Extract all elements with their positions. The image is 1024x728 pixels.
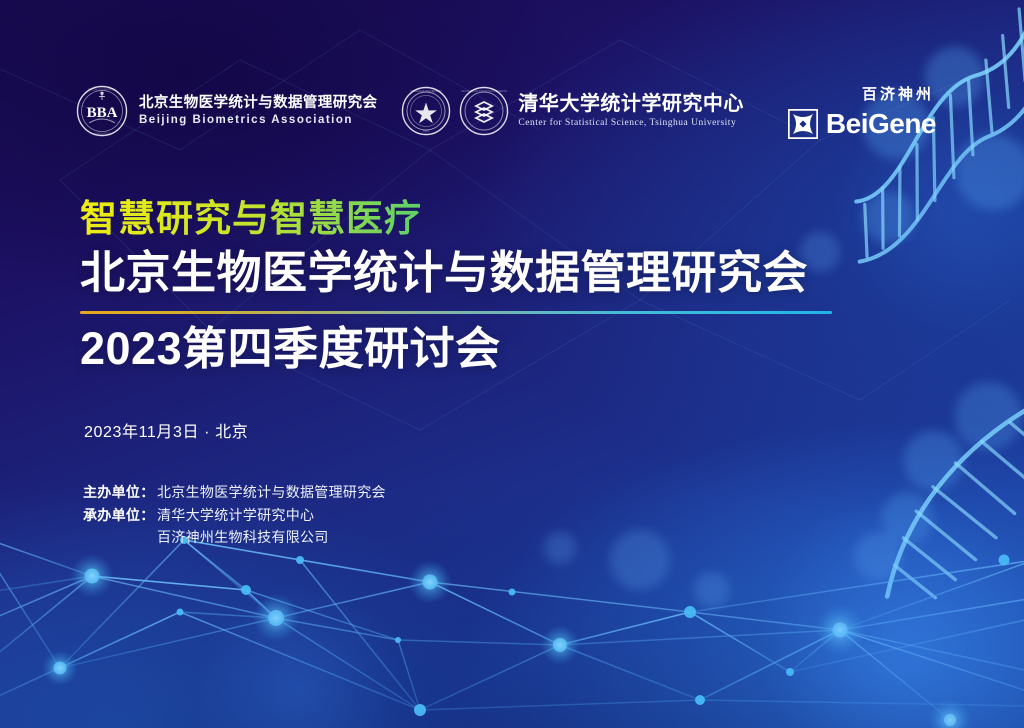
tsinghua-name-cn: 清华大学统计学研究中心	[518, 93, 744, 115]
bba-name-cn: 北京生物医学统计与数据管理研究会	[139, 95, 377, 111]
bba-name-en: Beijing Biometrics Association	[139, 114, 377, 127]
organizer-value: 百济神州生物科技有限公司	[157, 526, 329, 549]
title-divider	[80, 311, 832, 314]
conference-poster: BBA BEIJING BIOMETRICS ASSOCIATION 北京生物医…	[0, 0, 1024, 728]
beigene-name-en: BeiGene	[826, 108, 936, 140]
beigene-mark-icon	[788, 109, 818, 139]
bba-seal-icon: BBA BEIJING BIOMETRICS ASSOCIATION	[76, 85, 128, 137]
poster-subtitle: 智慧研究与智慧医疗	[80, 198, 832, 239]
beigene-logo: 百济神州 BeiGene	[788, 83, 936, 140]
tsinghua-university-seal-icon: TSINGHUA UNIVERSITY 1911	[401, 86, 451, 136]
bba-logo: BBA BEIJING BIOMETRICS ASSOCIATION 北京生物医…	[76, 85, 377, 137]
svg-text:CENTER FOR STATISTICAL SCIENCE: CENTER FOR STATISTICAL SCIENCE	[462, 89, 508, 93]
organizer-value: 清华大学统计学研究中心	[157, 504, 314, 527]
organizer-value: 北京生物医学统计与数据管理研究会	[157, 481, 386, 504]
date-location: 2023年11月3日 · 北京	[84, 418, 248, 442]
poster-title-line2: 2023第四季度研讨会	[80, 323, 832, 374]
svg-text:ASSOCIATION: ASSOCIATION	[93, 132, 111, 136]
tsinghua-logo: TSINGHUA UNIVERSITY 1911 CENTER FOR STAT…	[401, 86, 744, 136]
svg-text:BEIJING BIOMETRICS: BEIJING BIOMETRICS	[89, 87, 116, 91]
tsinghua-name-en: Center for Statistical Science, Tsinghua…	[518, 118, 744, 128]
beigene-name-cn: 百济神州	[862, 83, 934, 104]
svg-text:TSINGHUA UNIVERSITY: TSINGHUA UNIVERSITY	[410, 89, 442, 93]
svg-text:1911: 1911	[423, 129, 429, 133]
organizer-row: 主办单位： 北京生物医学统计与数据管理研究会	[83, 481, 386, 504]
organizer-row: 承办单位： 清华大学统计学研究中心	[83, 504, 386, 527]
poster-title-line1: 北京生物医学统计与数据管理研究会	[80, 247, 832, 298]
organizer-row: 百济神州生物科技有限公司	[83, 526, 386, 549]
organizer-label: 承办单位：	[83, 504, 157, 527]
statistics-center-seal-icon: CENTER FOR STATISTICAL SCIENCE	[459, 86, 509, 136]
organizers-block: 主办单位： 北京生物医学统计与数据管理研究会 承办单位： 清华大学统计学研究中心…	[83, 481, 386, 549]
organizer-label: 主办单位：	[83, 481, 157, 504]
title-block: 智慧研究与智慧医疗 北京生物医学统计与数据管理研究会 2023第四季度研讨会	[80, 198, 832, 374]
logo-bar: BBA BEIJING BIOMETRICS ASSOCIATION 北京生物医…	[76, 80, 936, 142]
